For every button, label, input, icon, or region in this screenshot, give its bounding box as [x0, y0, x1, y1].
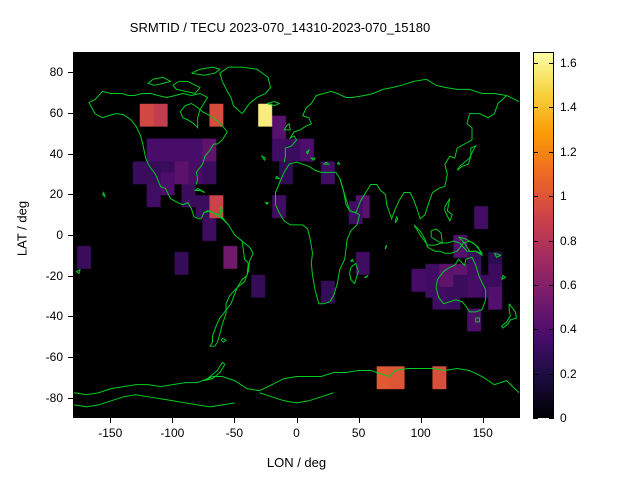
- colorbar-tick-mark: [549, 196, 554, 197]
- x-tick-label: -50: [226, 426, 243, 440]
- colorbar-tick-label: 1.4: [560, 100, 577, 114]
- colorbar-tick-mark: [549, 374, 554, 375]
- chart-title: SRMTID / TECU 2023-070_14310-2023-070_15…: [0, 20, 560, 35]
- x-tick-mark: [297, 418, 298, 423]
- colorbar-tick-mark: [533, 107, 538, 108]
- colorbar-tick-mark: [549, 107, 554, 108]
- colorbar-tick-label: 0.8: [560, 234, 577, 248]
- colorbar-tick-mark: [533, 374, 538, 375]
- x-tick-mark: [421, 418, 422, 423]
- x-tick-mark: [359, 418, 360, 423]
- map-plot-area[interactable]: [73, 52, 520, 418]
- colorbar-tick-label: 1: [560, 189, 567, 203]
- colorbar-tick-mark: [549, 285, 554, 286]
- colorbar-tick-mark: [549, 418, 554, 419]
- x-tick-label: 100: [411, 426, 431, 440]
- y-tick-mark: [68, 72, 73, 73]
- y-tick-label: -60: [25, 350, 63, 364]
- y-tick-label: 20: [25, 187, 63, 201]
- colorbar-tick-mark: [549, 152, 554, 153]
- colorbar-tick-label: 0.6: [560, 278, 577, 292]
- y-tick-mark: [68, 276, 73, 277]
- heatmap-cell-layer: [74, 53, 519, 417]
- colorbar-tick-mark: [549, 241, 554, 242]
- y-tick-mark: [68, 357, 73, 358]
- x-tick-mark: [172, 418, 173, 423]
- x-tick-label: -100: [160, 426, 184, 440]
- x-tick-label: -150: [98, 426, 122, 440]
- x-tick-label: 50: [352, 426, 365, 440]
- colorbar-tick-mark: [533, 241, 538, 242]
- y-tick-label: 0: [25, 228, 63, 242]
- colorbar-tick-mark: [533, 196, 538, 197]
- x-tick-mark: [110, 418, 111, 423]
- x-tick-label: 150: [473, 426, 493, 440]
- colorbar-tick-mark: [533, 152, 538, 153]
- colorbar-tick-mark: [533, 418, 538, 419]
- y-tick-label: 40: [25, 147, 63, 161]
- x-tick-label: 0: [293, 426, 300, 440]
- colorbar-tick-label: 0: [560, 411, 567, 425]
- colorbar-tick-label: 1.6: [560, 56, 577, 70]
- y-tick-label: -80: [25, 391, 63, 405]
- colorbar-tick-mark: [533, 63, 538, 64]
- colorbar-tick-mark: [533, 329, 538, 330]
- colorbar-tick-mark: [533, 285, 538, 286]
- y-tick-mark: [68, 113, 73, 114]
- y-axis-label: LAT / deg: [15, 159, 30, 299]
- y-tick-mark: [68, 194, 73, 195]
- y-tick-mark: [68, 398, 73, 399]
- x-tick-mark: [234, 418, 235, 423]
- y-tick-mark: [68, 316, 73, 317]
- x-axis-label: LON / deg: [73, 455, 520, 470]
- colorbar-tick-label: 0.2: [560, 367, 577, 381]
- y-tick-label: -40: [25, 309, 63, 323]
- y-tick-label: -20: [25, 269, 63, 283]
- chart-figure: SRMTID / TECU 2023-070_14310-2023-070_15…: [0, 0, 640, 480]
- y-tick-label: 60: [25, 106, 63, 120]
- colorbar-tick-mark: [549, 329, 554, 330]
- colorbar-tick-label: 1.2: [560, 145, 577, 159]
- colorbar-tick-label: 0.4: [560, 322, 577, 336]
- colorbar-tick-mark: [549, 63, 554, 64]
- x-tick-mark: [483, 418, 484, 423]
- y-tick-mark: [68, 154, 73, 155]
- y-tick-mark: [68, 235, 73, 236]
- y-tick-label: 80: [25, 65, 63, 79]
